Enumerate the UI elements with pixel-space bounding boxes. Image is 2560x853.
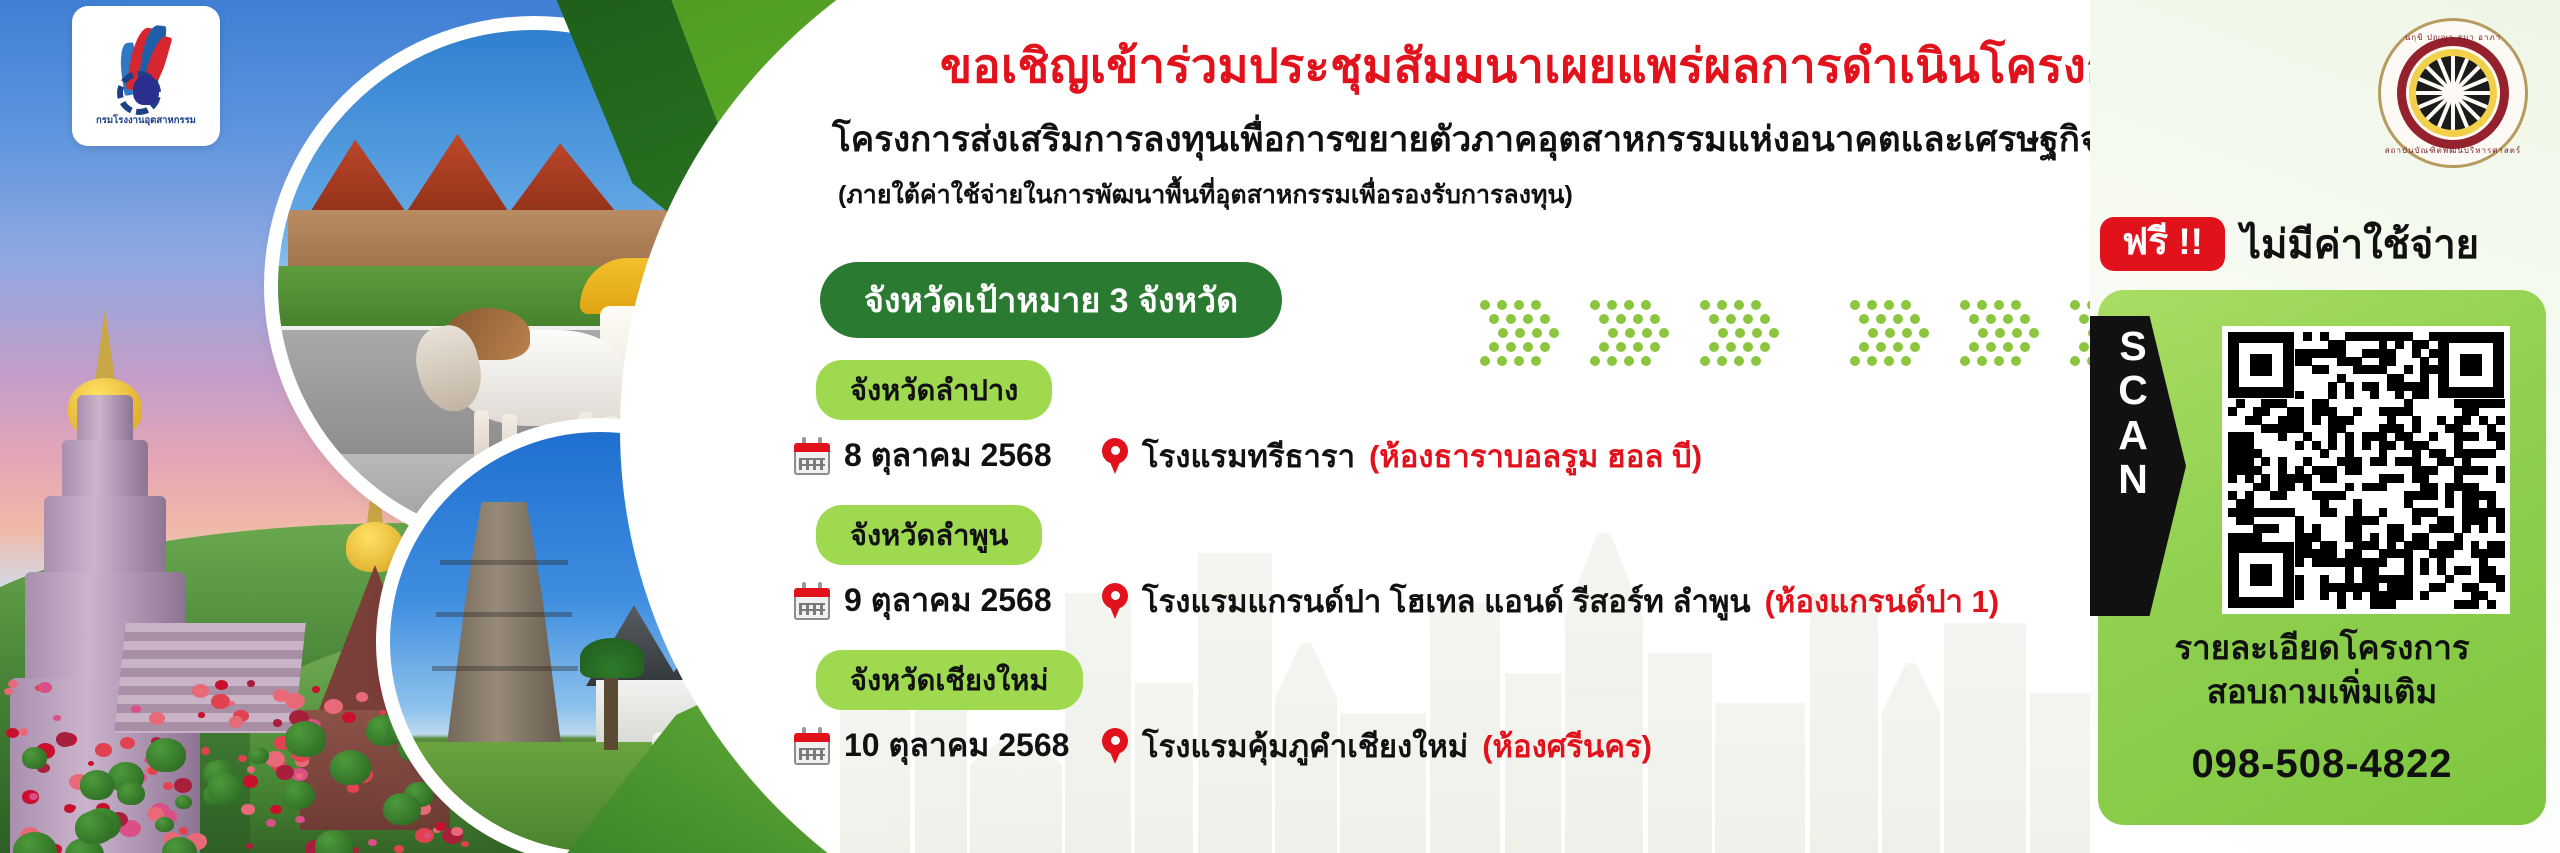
flower-bed — [211, 694, 229, 709]
flower-bed — [276, 765, 295, 780]
qr-module — [2429, 432, 2438, 441]
decorative-dot — [1540, 314, 1550, 324]
flower-bed — [229, 701, 235, 706]
qr-module — [2261, 457, 2270, 466]
qr-module — [2387, 441, 2396, 450]
decorative-dot — [2079, 314, 2089, 324]
contact-phone: 098-508-4822 — [2098, 742, 2546, 787]
location-pin-icon — [1102, 728, 1128, 764]
flower-bed — [296, 773, 303, 779]
qr-module — [2496, 474, 2505, 483]
decorative-dot — [2011, 300, 2021, 310]
decorative-dot — [1531, 300, 1541, 310]
flower-bed — [238, 755, 247, 762]
flower-bed — [241, 804, 255, 815]
shrub — [22, 747, 48, 769]
decorative-dot — [1884, 300, 1894, 310]
qr-module — [2236, 399, 2245, 408]
flower-bed — [131, 705, 141, 713]
qr-module — [2295, 391, 2304, 400]
qr-module — [2496, 549, 2505, 558]
event-date: 9 ตุลาคม 2568 — [844, 575, 1082, 626]
qr-module — [2437, 583, 2446, 592]
decorative-dot — [1760, 342, 1770, 352]
flower-bed — [174, 778, 192, 793]
decorative-dot — [1709, 342, 1719, 352]
qr-module — [2496, 416, 2505, 425]
qr-module — [2345, 483, 2354, 492]
decorative-dot — [1717, 300, 1727, 310]
qr-card: SCAN รายละเอียดโครงการ สอบถามเพิ่มเติม 0… — [2098, 290, 2546, 825]
province-block-lampang: จังหวัดลำปาง 8 ตุลาคม 2568 โรงแรมทรีธารา… — [778, 360, 2118, 481]
qr-module — [2328, 441, 2337, 450]
target-provinces-badge: จังหวัดเป้าหมาย 3 จังหวัด — [820, 262, 1282, 338]
flower-bed — [215, 680, 228, 690]
qr-module — [2429, 466, 2438, 475]
qr-module — [2320, 449, 2329, 458]
decorative-dot — [1893, 342, 1903, 352]
decorative-dot — [2003, 342, 2013, 352]
flower-bed — [149, 712, 165, 725]
qr-module — [2353, 591, 2362, 600]
decorative-dot — [2020, 314, 2030, 324]
decorative-dot — [1751, 300, 1761, 310]
decorative-dot — [1489, 314, 1499, 324]
flower-bed — [56, 732, 75, 747]
flower-bed — [38, 682, 52, 693]
diw-flame-icon — [107, 25, 185, 109]
qr-module — [2471, 432, 2480, 441]
qr-module — [2404, 591, 2413, 600]
qr-module — [2445, 499, 2454, 508]
decorative-dot — [1498, 328, 1508, 338]
qr-module — [2337, 491, 2346, 500]
decorative-dot — [2079, 342, 2089, 352]
flower-bed — [356, 692, 368, 701]
decorative-dot — [1726, 342, 1736, 352]
shrub — [282, 781, 315, 809]
project-subtitle: โครงการส่งเสริมการลงทุนเพื่อการขยายตัวภา… — [832, 112, 2122, 167]
decorative-dot — [1616, 342, 1626, 352]
free-admission-row: ฟรี !! ไม่มีค่าใช้จ่าย — [2100, 212, 2550, 276]
decorative-dot — [1718, 328, 1728, 338]
decorative-dot — [1650, 314, 1660, 324]
calendar-icon — [794, 727, 830, 765]
province-detail-row: 8 ตุลาคม 2568 โรงแรมทรีธารา (ห้องธาราบอล… — [778, 430, 2118, 481]
shrub — [75, 811, 113, 844]
seal-top-text: นกฺขิ ปญฺญา สมา อาภา — [2381, 31, 2525, 44]
dharma-wheel-icon — [2416, 56, 2490, 130]
decorative-dot — [1726, 314, 1736, 324]
qr-module — [2412, 424, 2421, 433]
main-content: ขอเชิญเข้าร่วมประชุมสัมมนาเผยแพร่ผลการดำ… — [760, 0, 2140, 853]
qr-code[interactable] — [2222, 326, 2510, 614]
decorative-dot — [1497, 300, 1507, 310]
decorative-dot — [1641, 300, 1651, 310]
qr-caption: รายละเอียดโครงการ สอบถามเพิ่มเติม — [2098, 626, 2546, 714]
decorative-dot — [1986, 342, 1996, 352]
qr-module — [2479, 524, 2488, 533]
qr-module — [2429, 349, 2438, 358]
decorative-dot — [2012, 328, 2022, 338]
qr-module — [2295, 558, 2304, 567]
qr-module — [2496, 441, 2505, 450]
flower-bed — [342, 712, 356, 723]
decorative-dot — [1910, 314, 1920, 324]
event-date: 10 ตุลาคม 2568 — [844, 720, 1082, 771]
location-pin-icon — [1102, 438, 1128, 474]
qr-module — [2462, 524, 2471, 533]
flower-bed — [246, 843, 253, 848]
decorative-dot — [1540, 342, 1550, 352]
event-venue: โรงแรมทรีธารา — [1142, 431, 1355, 481]
decorative-dot — [1506, 342, 1516, 352]
flower-bed — [247, 766, 255, 772]
decorative-dot — [1969, 314, 1979, 324]
qr-module — [2479, 466, 2488, 475]
shrub — [175, 795, 192, 810]
shrub — [117, 782, 144, 805]
shrub — [248, 747, 269, 765]
scan-label: SCAN — [2102, 324, 2164, 501]
decorative-dot — [1868, 328, 1878, 338]
shrub — [146, 738, 186, 772]
qr-module — [2253, 533, 2262, 542]
qr-module — [2471, 600, 2480, 609]
qr-module — [2270, 524, 2279, 533]
decorative-dot — [2070, 300, 2080, 310]
qr-module — [2496, 583, 2505, 592]
qr-module — [2328, 391, 2337, 400]
flower-bed — [8, 680, 18, 688]
decorative-dot — [1599, 314, 1609, 324]
flower-bed — [179, 827, 189, 835]
flower-bed — [53, 715, 61, 721]
qr-module — [2429, 332, 2438, 341]
flower-bed — [295, 816, 305, 824]
decorative-dot — [1743, 342, 1753, 352]
decorative-dot — [1506, 314, 1516, 324]
decorative-dot — [1876, 314, 1886, 324]
province-name-badge: จังหวัดลำปาง — [816, 360, 1052, 420]
qr-module — [2353, 407, 2362, 416]
shrub — [330, 750, 371, 785]
page-title: ขอเชิญเข้าร่วมประชุมสัมมนาเผยแพร่ผลการดำ… — [940, 28, 2100, 103]
decorative-dot — [1650, 342, 1660, 352]
flower-bed — [88, 761, 95, 766]
flower-bed — [270, 805, 282, 814]
qr-module — [2395, 474, 2404, 483]
decorative-dot — [1489, 342, 1499, 352]
decorative-dot — [1599, 342, 1609, 352]
shrub — [207, 773, 242, 803]
right-panel: นกฺขิ ปญฺญา สมา อาภา สถาบันบัณฑิตพัฒนบริ… — [2090, 0, 2560, 853]
decorative-dot — [1902, 328, 1912, 338]
decorative-dot — [1867, 300, 1877, 310]
decorative-dot — [1769, 328, 1779, 338]
province-name-badge: จังหวัดเชียงใหม่ — [816, 650, 1083, 710]
decorative-dot — [1633, 342, 1643, 352]
decorative-dot — [1735, 328, 1745, 338]
qr-module — [2362, 441, 2371, 450]
qr-module — [2404, 365, 2413, 374]
decorative-dot — [1659, 328, 1669, 338]
decorative-dot — [1709, 314, 1719, 324]
qr-module — [2420, 591, 2429, 600]
scan-letter: S — [2102, 324, 2164, 368]
qr-module — [2462, 416, 2471, 425]
decorative-dot — [1960, 300, 1970, 310]
flower-bed — [229, 716, 244, 728]
flower-bed — [247, 680, 256, 687]
qr-module — [2303, 332, 2312, 341]
flower-bed — [312, 686, 321, 693]
qr-module — [2370, 391, 2379, 400]
event-room: (ห้องศรีนคร) — [1482, 721, 1652, 771]
qr-module — [2412, 516, 2421, 525]
qr-module — [2379, 508, 2388, 517]
qr-caption-line2: สอบถามเพิ่มเติม — [2098, 670, 2546, 714]
qr-module — [2278, 491, 2287, 500]
qr-module — [2395, 340, 2404, 349]
qr-module — [2345, 391, 2354, 400]
decorative-dot — [1859, 342, 1869, 352]
qr-module — [2261, 407, 2270, 416]
shrub — [285, 721, 326, 756]
flower-bed — [324, 699, 343, 714]
calendar-icon — [794, 437, 830, 475]
decorative-dot — [1590, 300, 1600, 310]
qr-module — [2312, 416, 2321, 425]
qr-module — [2429, 491, 2438, 500]
flower-bed — [19, 728, 28, 735]
qr-module — [2287, 483, 2296, 492]
deity-icon — [133, 75, 159, 105]
decorative-dot — [1633, 314, 1643, 324]
qr-module — [2445, 575, 2454, 584]
decorative-dot — [1969, 342, 1979, 352]
flower-bed — [192, 684, 209, 698]
decorative-dot — [1977, 300, 1987, 310]
calendar-icon — [794, 582, 830, 620]
decorative-dot — [1901, 300, 1911, 310]
province-detail-row: 10 ตุลาคม 2568 โรงแรมคุ้มภูคำเชียงใหม่ (… — [778, 720, 2118, 771]
decorative-dot — [1995, 328, 2005, 338]
flower-bed — [6, 728, 19, 738]
shrub — [315, 830, 353, 853]
flower-bed — [69, 805, 75, 810]
decorative-dot — [1859, 314, 1869, 324]
flower-bed — [4, 688, 13, 695]
decorative-dot — [1514, 300, 1524, 310]
qr-module — [2337, 600, 2346, 609]
decorative-dot — [1523, 314, 1533, 324]
decorative-dot — [1607, 300, 1617, 310]
decorative-dot — [1885, 328, 1895, 338]
decorative-dot — [1893, 314, 1903, 324]
decorative-dot — [1986, 314, 1996, 324]
qr-module — [2454, 541, 2463, 550]
qr-caption-line1: รายละเอียดโครงการ — [2098, 626, 2546, 670]
qr-module — [2228, 474, 2237, 483]
seal-bottom-text: สถาบันบัณฑิตพัฒนบริหารศาสตร์ — [2381, 144, 2525, 157]
nida-seal: นกฺขิ ปญฺญา สมา อาภา สถาบันบัณฑิตพัฒนบริ… — [2378, 18, 2528, 168]
province-name-badge: จังหวัดลำพูน — [816, 505, 1042, 565]
decorative-dot — [2003, 314, 2013, 324]
qr-module — [2420, 391, 2429, 400]
flower-bed — [95, 743, 112, 757]
qr-module — [2228, 407, 2237, 416]
province-block-chiangmai: จังหวัดเชียงใหม่ 10 ตุลาคม 2568 โรงแรมคุ… — [778, 650, 2118, 771]
flower-bed — [266, 819, 277, 828]
province-detail-row: 9 ตุลาคม 2568 โรงแรมแกรนด์ปา โฮเทล แอนด์… — [778, 575, 2118, 626]
qr-module — [2429, 365, 2438, 374]
decorative-dot — [1624, 300, 1634, 310]
qr-module — [2496, 399, 2505, 408]
decorative-dot — [1876, 342, 1886, 352]
shrub — [80, 770, 114, 799]
qr-module — [2295, 441, 2304, 450]
flower-bed — [163, 782, 173, 790]
qr-module — [2387, 357, 2396, 366]
event-room: (ห้องธาราบอลรูม ฮอล บี) — [1369, 431, 1702, 481]
decorative-dot — [1910, 342, 1920, 352]
decorative-dot — [1515, 328, 1525, 338]
decorative-dot — [1549, 328, 1559, 338]
decorative-dot — [1532, 328, 1542, 338]
free-badge: ฟรี !! — [2100, 217, 2225, 272]
free-text: ไม่มีค่าใช้จ่าย — [2241, 212, 2479, 276]
flower-bed — [198, 712, 205, 717]
decorative-dot — [1760, 314, 1770, 324]
event-venue: โรงแรมแกรนด์ปา โฮเทล แอนด์ รีสอร์ท ลำพูน — [1142, 576, 1751, 626]
event-room: (ห้องแกรนด์ปา 1) — [1765, 576, 2000, 626]
qr-module — [2328, 474, 2337, 483]
scan-letter: C — [2102, 368, 2164, 412]
diw-logo-card: กรมโรงงานอุตสาหกรรม — [72, 6, 220, 146]
qr-module — [2496, 524, 2505, 533]
seminar-announcement-banner: กรมโรงงานอุตสาหกรรม ขอเชิญเข้าร่วมประชุม… — [0, 0, 2560, 853]
decorative-dot — [1616, 314, 1626, 324]
qr-module — [2462, 566, 2471, 575]
qr-module — [2379, 558, 2388, 567]
flower-bed — [120, 737, 135, 749]
decorative-dot — [1480, 300, 1490, 310]
diw-logo-label: กรมโรงงานอุตสาหกรรม — [96, 113, 196, 128]
qr-module — [2420, 566, 2429, 575]
qr-module — [2379, 483, 2388, 492]
qr-module — [2278, 432, 2287, 441]
qr-module — [2320, 591, 2329, 600]
province-block-lamphun: จังหวัดลำพูน 9 ตุลาคม 2568 โรงแรมแกรนด์ป… — [778, 505, 2118, 626]
decorative-dot — [1700, 300, 1710, 310]
decorative-dot — [1625, 328, 1635, 338]
qr-module — [2295, 591, 2304, 600]
qr-module — [2353, 466, 2362, 475]
decorative-dot — [1523, 342, 1533, 352]
scan-letter: N — [2102, 457, 2164, 501]
scan-letter: A — [2102, 413, 2164, 457]
flower-bed — [273, 689, 289, 702]
location-pin-icon — [1102, 583, 1128, 619]
qr-module — [2487, 600, 2496, 609]
qr-module — [2487, 449, 2496, 458]
decorative-dot — [1752, 328, 1762, 338]
qr-module — [2328, 508, 2337, 517]
decorative-dot — [1743, 314, 1753, 324]
flower-bed — [201, 747, 211, 755]
shrub — [155, 817, 173, 833]
qr-module — [2387, 600, 2396, 609]
decorative-dot — [1978, 328, 1988, 338]
flower-bed — [243, 775, 259, 787]
decorative-dot — [1734, 300, 1744, 310]
qr-module — [2445, 549, 2454, 558]
flower-bed — [380, 710, 386, 715]
event-venue: โรงแรมคุ้มภูคำเชียงใหม่ — [1142, 721, 1468, 771]
decorative-dot — [1642, 328, 1652, 338]
decorative-dot — [2029, 328, 2039, 338]
qr-module — [2379, 457, 2388, 466]
event-date: 8 ตุลาคม 2568 — [844, 430, 1082, 481]
flower-bed — [273, 719, 283, 727]
decorative-dot — [1919, 328, 1929, 338]
flower-bed — [368, 839, 377, 846]
project-note: (ภายใต้ค่าใช้จ่ายในการพัฒนาพื้นที่อุตสาห… — [838, 175, 1988, 215]
decorative-dot — [2020, 342, 2030, 352]
qr-module — [2320, 365, 2329, 374]
decorative-dot — [1994, 300, 2004, 310]
decorative-dot — [1850, 300, 1860, 310]
qr-module — [2345, 416, 2354, 425]
decorative-dot — [1608, 328, 1618, 338]
qr-module — [2370, 516, 2379, 525]
